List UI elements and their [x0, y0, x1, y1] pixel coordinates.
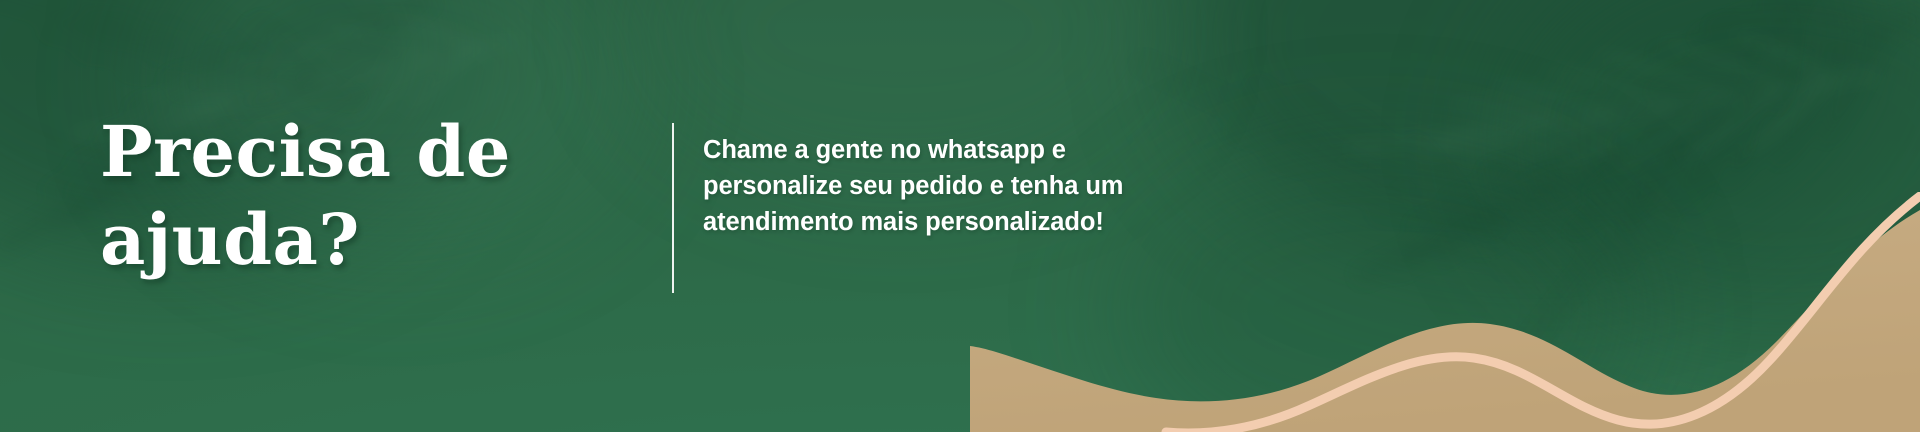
page-title: Precisa de ajuda? [100, 108, 640, 284]
banner-content: Precisa de ajuda? Chame a gente no whats… [0, 0, 1920, 432]
vertical-divider [672, 123, 674, 293]
banner-description: Chame a gente no whatsapp e personalize … [703, 132, 1133, 241]
help-banner: Precisa de ajuda? Chame a gente no whats… [0, 0, 1920, 432]
